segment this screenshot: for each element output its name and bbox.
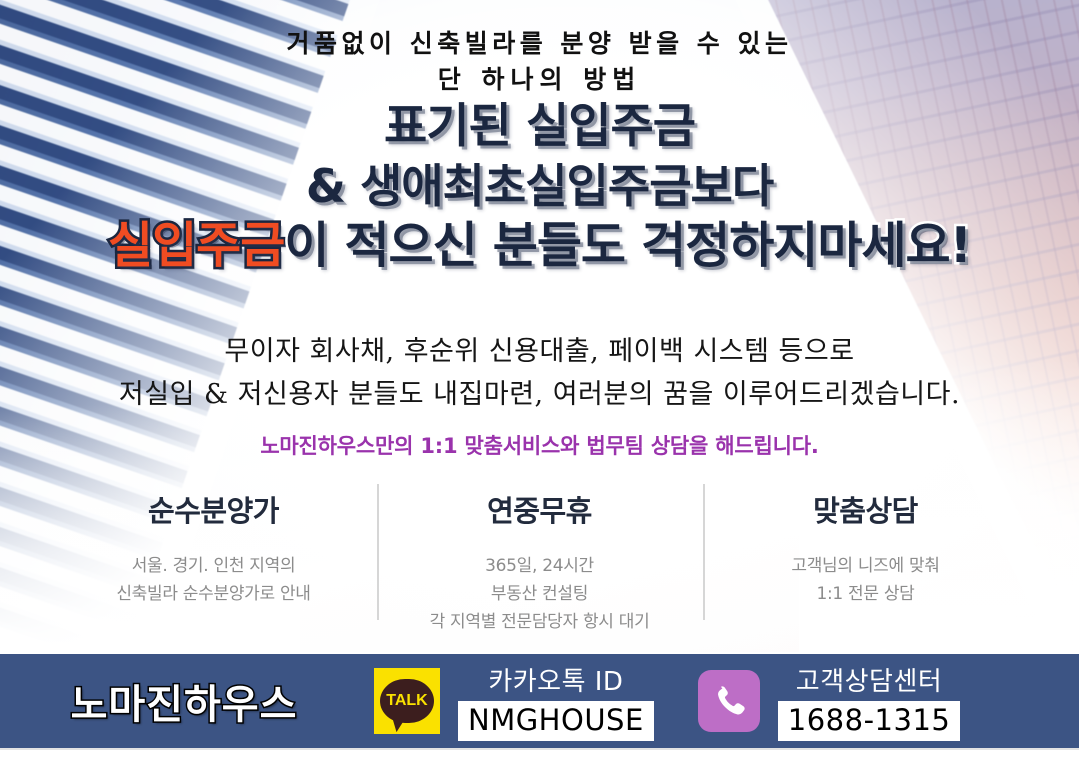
body-copy-line-2: 저실입 & 저신용자 분들도 내집마련, 여러분의 꿈을 이루어드리겠습니다. bbox=[0, 373, 1079, 416]
speech-bubble-icon: TALK bbox=[380, 679, 434, 723]
headline-line-3: 실입주금이 적으신 분들도 걱정하지마세요! bbox=[0, 218, 1079, 274]
kakaotalk-icon[interactable]: TALK bbox=[374, 668, 440, 734]
footer-bottom-rule bbox=[0, 748, 1079, 759]
headline-line-2: & 생애최초실입주금보다 bbox=[0, 160, 1079, 212]
feature-column-custom-consult: 맞춤상담 고객님의 니즈에 맞춰 1:1 전문 상담 bbox=[703, 482, 1029, 608]
feature-title: 연중무휴 bbox=[377, 488, 703, 530]
kakao-id-value[interactable]: NMGHOUSE bbox=[458, 701, 654, 741]
footer-contact-bar: 노마진하우스 TALK 카카오톡 ID NMGHOUSE 고객상담센터 1688… bbox=[0, 654, 1079, 748]
kakaotalk-icon-label: TALK bbox=[386, 692, 427, 710]
headline-line-1: 표기된 실입주금 bbox=[0, 100, 1079, 154]
feature-body-line: 365일, 24시간 bbox=[377, 552, 703, 580]
feature-body-line: 1:1 전문 상담 bbox=[703, 580, 1029, 608]
kicker-text: 거품없이 신축빌라를 분양 받을 수 있는 단 하나의 방법 bbox=[0, 26, 1079, 98]
headline-line-3-rest: 이 적으신 분들도 걱정하지마세요! bbox=[284, 217, 971, 274]
brand-name: 노마진하우스 bbox=[0, 672, 368, 730]
feature-body: 365일, 24시간 부동산 컨설팅 각 지역별 전문담당자 항시 대기 bbox=[377, 552, 703, 636]
kakao-contact-block[interactable]: TALK 카카오톡 ID NMGHOUSE bbox=[374, 661, 654, 741]
banner-content: 거품없이 신축빌라를 분양 받을 수 있는 단 하나의 방법 표기된 실입주금 … bbox=[0, 0, 1079, 652]
feature-title: 순수분양가 bbox=[51, 488, 377, 530]
kakao-id-label: 카카오톡 ID bbox=[458, 661, 654, 698]
advertisement-banner: 거품없이 신축빌라를 분양 받을 수 있는 단 하나의 방법 표기된 실입주금 … bbox=[0, 0, 1079, 759]
feature-body-line: 고객님의 니즈에 맞춰 bbox=[703, 552, 1029, 580]
feature-body-line: 신축빌라 순수분양가로 안내 bbox=[51, 580, 377, 608]
feature-body-line: 서울. 경기. 인천 지역의 bbox=[51, 552, 377, 580]
feature-body: 서울. 경기. 인천 지역의 신축빌라 순수분양가로 안내 bbox=[51, 552, 377, 608]
headline-block: 표기된 실입주금 & 생애최초실입주금보다 실입주금이 적으신 분들도 걱정하지… bbox=[0, 100, 1079, 274]
purple-note: 노마진하우스만의 1:1 맞춤서비스와 법무팀 상담을 해드립니다. bbox=[0, 430, 1079, 460]
feature-column-open-year-round: 연중무휴 365일, 24시간 부동산 컨설팅 각 지역별 전문담당자 항시 대… bbox=[377, 482, 703, 636]
feature-title: 맞춤상담 bbox=[703, 488, 1029, 530]
feature-body-line: 각 지역별 전문담당자 항시 대기 bbox=[377, 608, 703, 636]
customer-center-number[interactable]: 1688-1315 bbox=[778, 701, 961, 741]
phone-contact-block[interactable]: 고객상담센터 1688-1315 bbox=[698, 661, 961, 741]
body-copy-line-1: 무이자 회사채, 후순위 신용대출, 페이백 시스템 등으로 bbox=[0, 330, 1079, 373]
feature-body-line: 부동산 컨설팅 bbox=[377, 580, 703, 608]
body-copy: 무이자 회사채, 후순위 신용대출, 페이백 시스템 등으로 저실입 & 저신용… bbox=[0, 330, 1079, 416]
customer-center-label: 고객상담센터 bbox=[778, 661, 961, 698]
feature-column-pure-price: 순수분양가 서울. 경기. 인천 지역의 신축빌라 순수분양가로 안내 bbox=[51, 482, 377, 608]
kicker-line-2: 단 하나의 방법 bbox=[0, 62, 1079, 98]
phone-contact-text: 고객상담센터 1688-1315 bbox=[778, 661, 961, 741]
kakao-contact-text: 카카오톡 ID NMGHOUSE bbox=[458, 661, 654, 741]
phone-icon[interactable] bbox=[698, 670, 760, 732]
kicker-line-1: 거품없이 신축빌라를 분양 받을 수 있는 bbox=[0, 26, 1079, 62]
headline-highlight-word: 실입주금 bbox=[108, 217, 284, 274]
feature-columns: 순수분양가 서울. 경기. 인천 지역의 신축빌라 순수분양가로 안내 연중무휴… bbox=[0, 482, 1079, 642]
feature-body: 고객님의 니즈에 맞춰 1:1 전문 상담 bbox=[703, 552, 1029, 608]
